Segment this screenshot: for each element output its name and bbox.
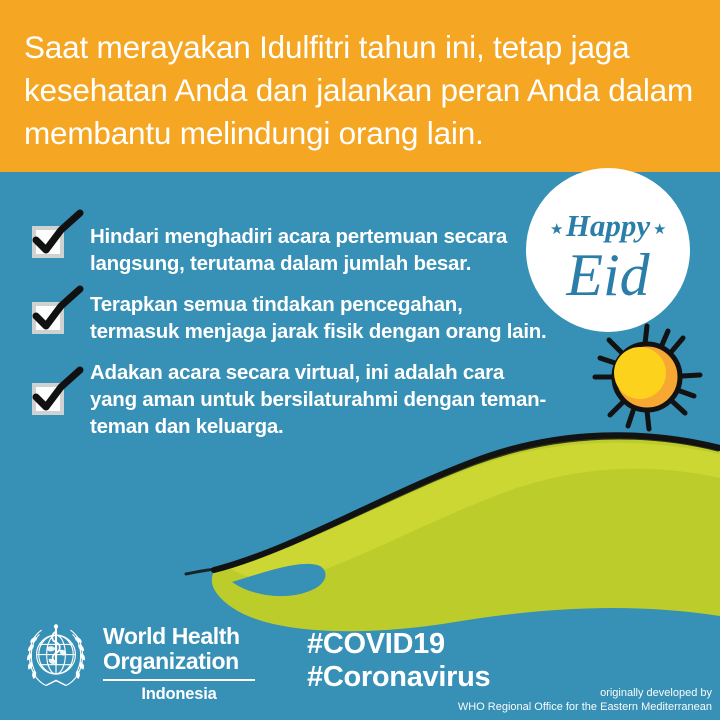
checkbox-3[interactable] <box>28 379 68 419</box>
list-item: Adakan acara secara virtual, ini adalah … <box>28 358 548 440</box>
checkmark-icon <box>26 367 84 417</box>
list-item-text: Adakan acara secara virtual, ini adalah … <box>90 358 548 440</box>
page-title: Saat merayakan Idulfitri tahun ini, teta… <box>24 26 696 155</box>
hashtags: #COVID19 #Coronavirus <box>307 628 490 694</box>
badge-eid-text: Eid <box>565 242 650 308</box>
who-logo: World Health Organization Indonesia <box>20 620 255 704</box>
checkmark-icon <box>26 286 84 336</box>
list-item: Terapkan semua tindakan pencegahan, term… <box>28 290 548 345</box>
list-item-text: Terapkan semua tindakan pencegahan, term… <box>90 290 548 345</box>
infographic-poster: Saat merayakan Idulfitri tahun ini, teta… <box>0 0 720 720</box>
who-name-line2: Organization <box>103 649 255 674</box>
badge-star-left: ★ <box>550 221 563 238</box>
hashtag-covid19: #COVID19 <box>307 628 490 661</box>
who-wordmark: World Health Organization Indonesia <box>103 620 255 704</box>
checkbox-1[interactable] <box>28 222 68 262</box>
badge-happy-text: Happy <box>565 208 651 243</box>
who-name-line1: World Health <box>103 624 255 649</box>
credit-text: originally developed by WHO Regional Off… <box>458 686 712 714</box>
checklist: Hindari menghadiri acara pertemuan secar… <box>28 222 548 453</box>
list-item: Hindari menghadiri acara pertemuan secar… <box>28 222 548 277</box>
who-emblem-icon <box>20 620 92 692</box>
who-country-label: Indonesia <box>103 685 255 704</box>
checkbox-2[interactable] <box>28 298 68 338</box>
badge-star-right: ★ <box>653 221 666 238</box>
credit-line2: WHO Regional Office for the Eastern Medi… <box>458 700 712 714</box>
who-divider <box>103 679 255 681</box>
happy-eid-badge: ★ ★ Happy Eid <box>520 162 696 338</box>
checkmark-icon <box>26 210 84 260</box>
list-item-text: Hindari menghadiri acara pertemuan secar… <box>90 222 548 277</box>
credit-line1: originally developed by <box>458 686 712 700</box>
sun-highlight <box>614 347 666 399</box>
